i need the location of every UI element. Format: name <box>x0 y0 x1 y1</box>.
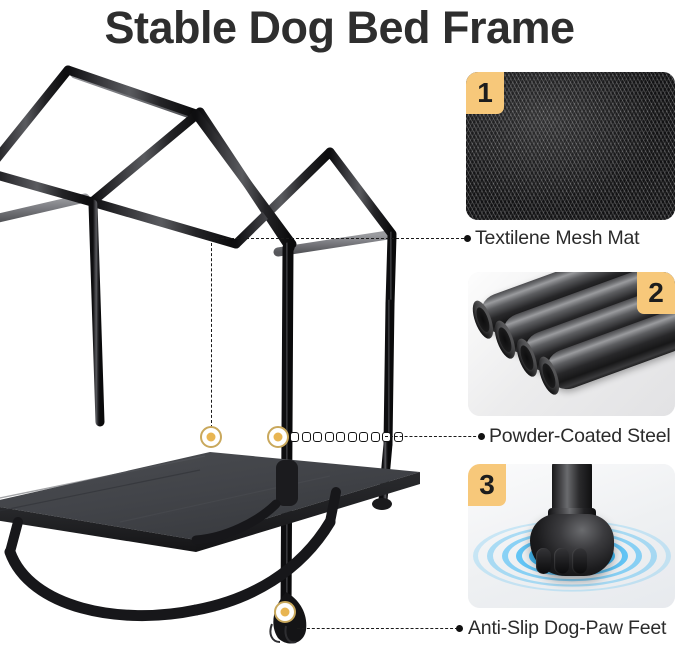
product-infographic: Stable Dog Bed Frame <box>0 0 679 646</box>
leader-line-1-horizontal <box>211 238 464 239</box>
leader-chain-2 <box>290 432 403 442</box>
product-illustration <box>0 52 450 646</box>
callout-label-1: Textilene Mesh Mat <box>475 227 639 250</box>
leader-line-2-horizontal <box>385 436 481 437</box>
feature-panel-2: 2 <box>468 272 675 416</box>
callout-label-3: Anti-Slip Dog-Paw Feet <box>468 617 666 640</box>
leader-dot-2 <box>478 433 485 440</box>
leader-dot-1 <box>464 235 471 242</box>
badge-number-3: 3 <box>468 464 506 506</box>
leader-line-1-vertical <box>211 238 212 428</box>
leader-dot-3 <box>456 625 463 632</box>
callout-label-2: Powder-Coated Steel <box>489 425 671 448</box>
marker-mesh-mat <box>200 426 222 448</box>
marker-steel-frame <box>267 426 289 448</box>
badge-number-2: 2 <box>637 272 675 314</box>
page-title: Stable Dog Bed Frame <box>0 0 679 58</box>
badge-number-1: 1 <box>466 72 504 114</box>
marker-paw-foot <box>274 601 296 623</box>
feature-panel-3: 3 <box>468 464 675 608</box>
feature-panel-1: 1 <box>466 72 675 220</box>
leader-line-3-horizontal <box>297 628 458 629</box>
